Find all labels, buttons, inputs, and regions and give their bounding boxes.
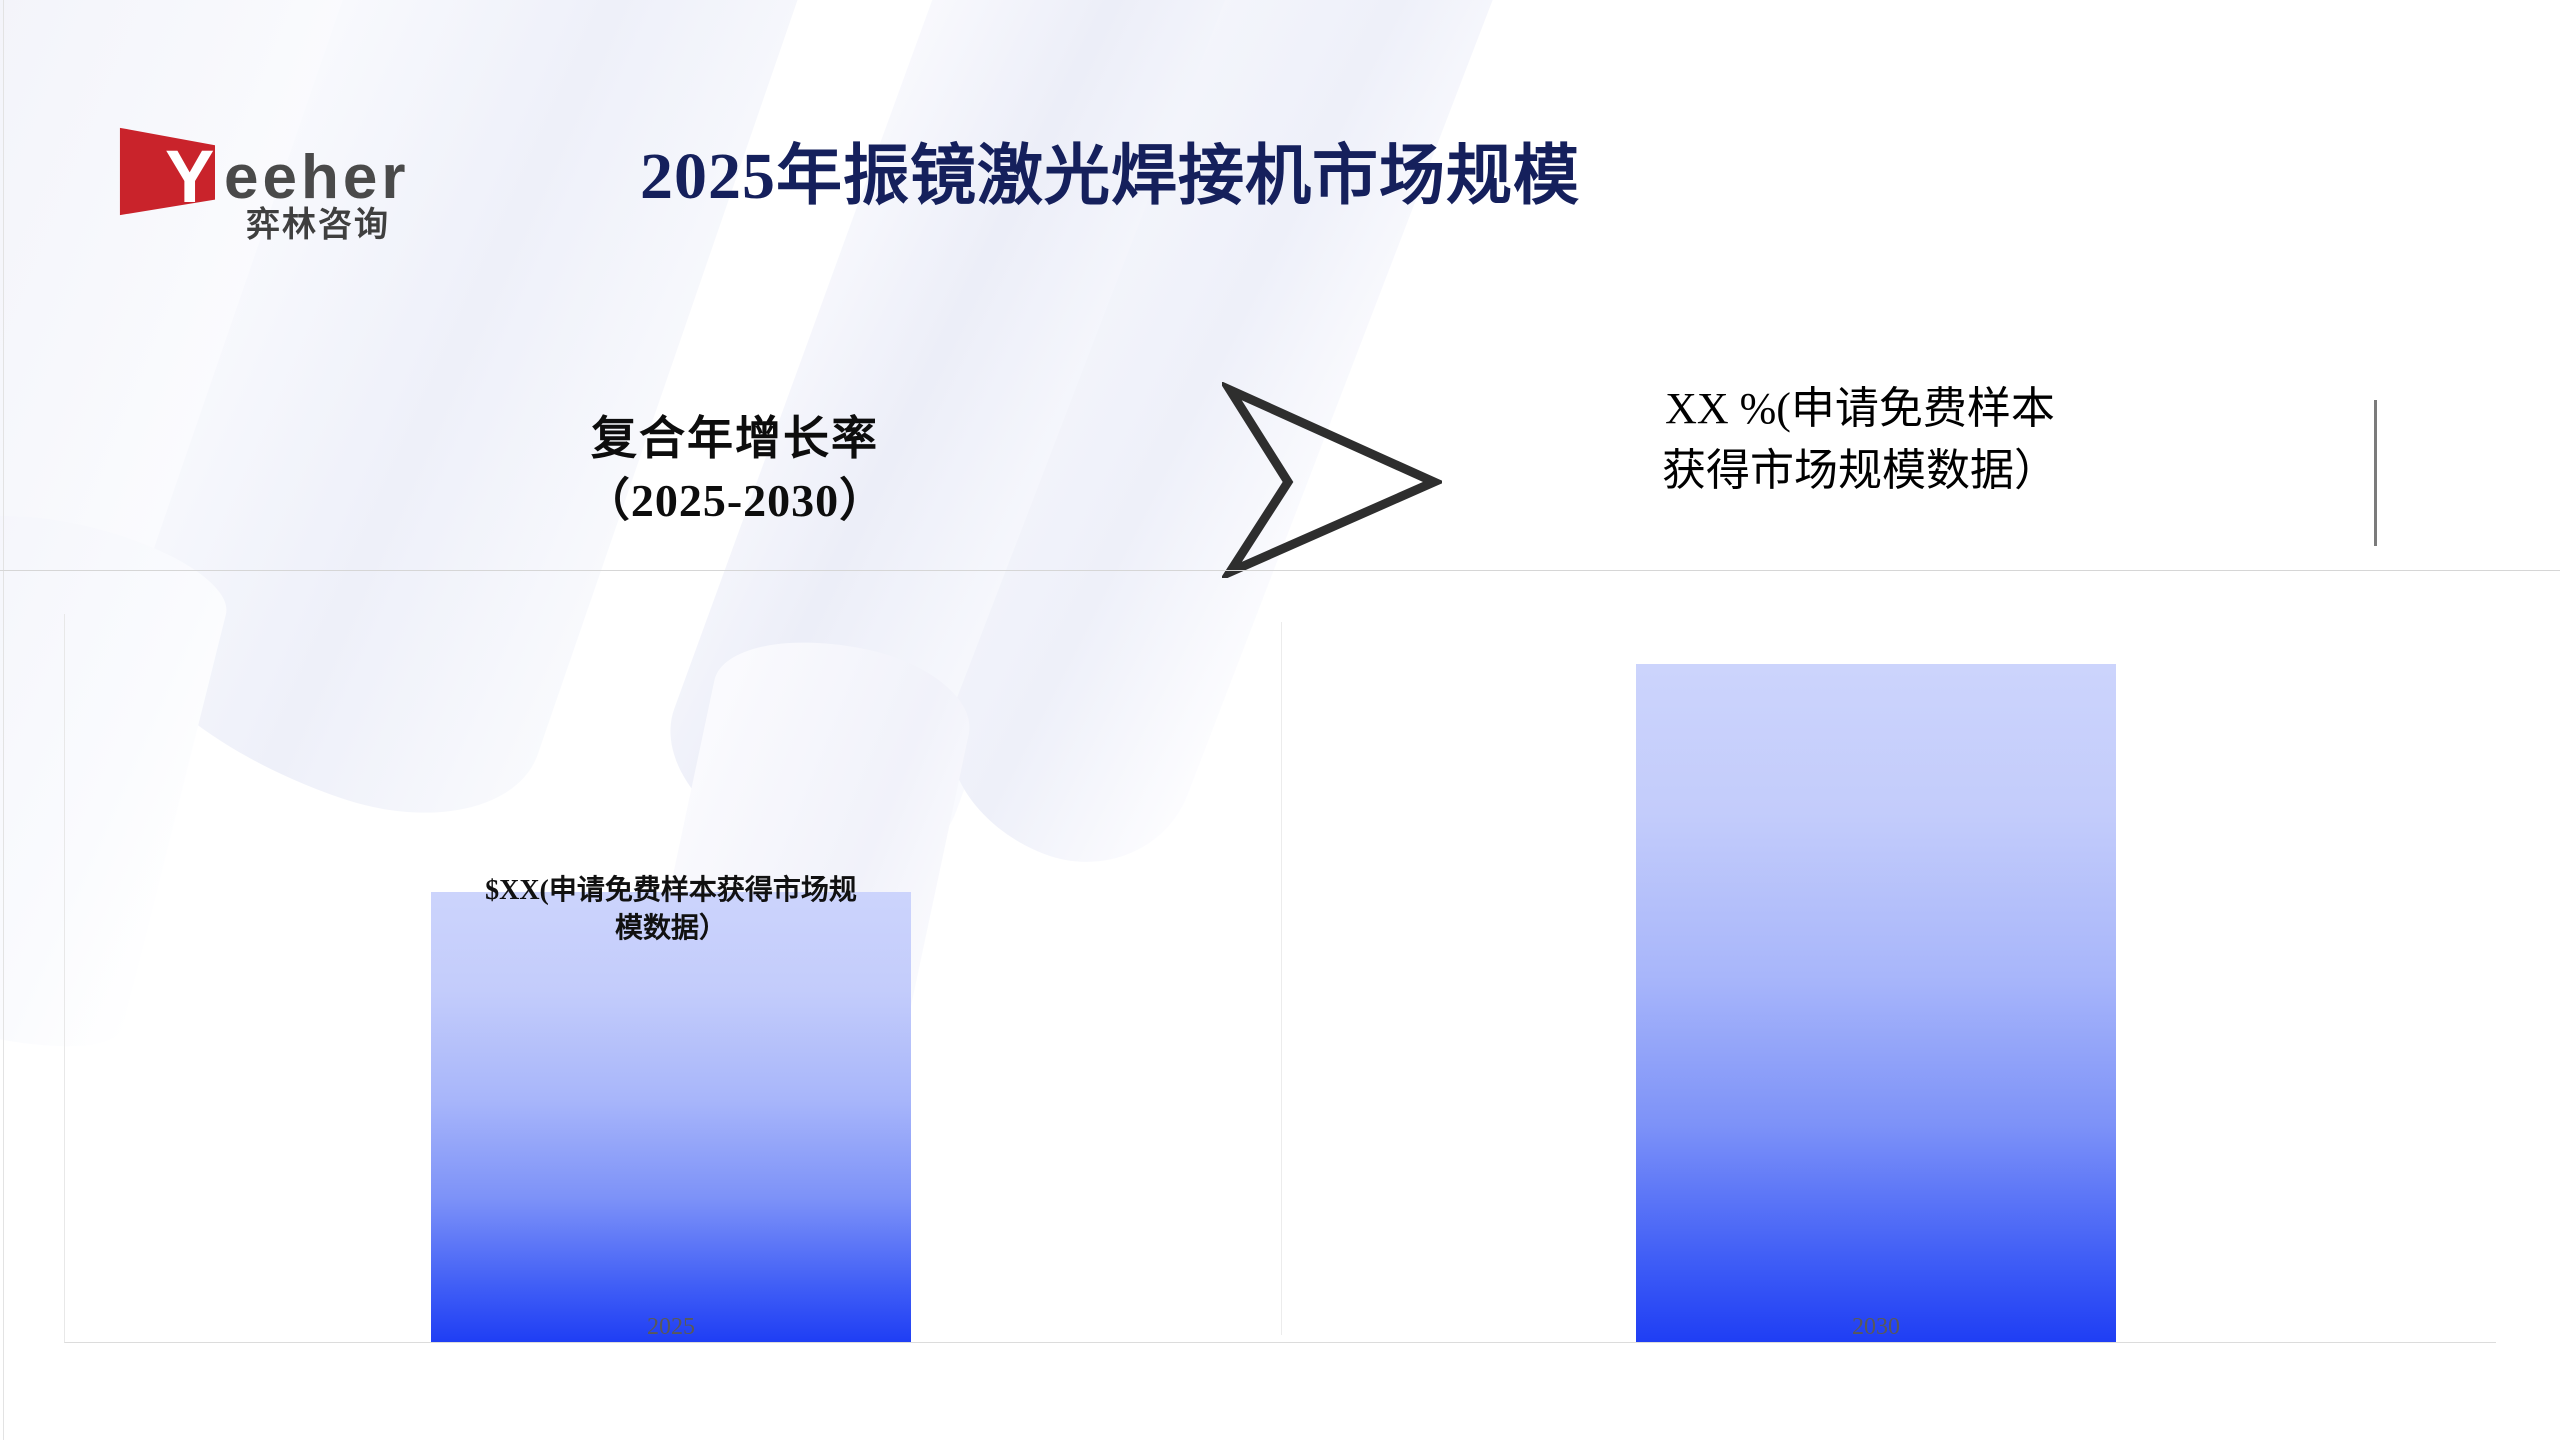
logo-letter-y: Y [165, 140, 213, 214]
bar-chart: $XX(申请免费样本获得市场规 模数据） 2025 2030 [64, 614, 2496, 1343]
arrow-right-outline-icon [1222, 382, 1442, 578]
bar-2030[interactable] [1636, 664, 2116, 1342]
bar-label-2025-line1: $XX(申请免费样本获得市场规 [381, 872, 961, 910]
slide-canvas: Y eeher 弈林咨询 2025年振镜激光焊接机市场规模 复合年增长率 （20… [0, 0, 2560, 1440]
cagr-value-line2: 获得市场规模数据） [1600, 440, 2120, 502]
page-left-edge-line [3, 0, 4, 1440]
x-tick-label-2030: 2030 [1636, 1312, 2116, 1342]
cagr-label-line2: （2025-2030） [540, 470, 930, 532]
cagr-value-line1: XX %(申请免费样本 [1600, 378, 2120, 440]
brand-logo: Y eeher 弈林咨询 [118, 118, 458, 223]
right-vertical-divider [2374, 400, 2377, 546]
page-title: 2025年振镜激光焊接机市场规模 [640, 136, 1580, 218]
chart-center-separator [1281, 622, 1282, 1335]
x-tick-label-2025: 2025 [431, 1312, 911, 1342]
cagr-label-line1: 复合年增长率 [540, 408, 930, 470]
header-horizontal-rule [0, 570, 2560, 571]
logo-chinese-name: 弈林咨询 [246, 208, 390, 242]
bar-2025[interactable] [431, 892, 911, 1342]
bar-label-2025-line2: 模数据） [381, 910, 961, 948]
logo-wordmark: eeher [224, 147, 409, 209]
chart-plot-area: $XX(申请免费样本获得市场规 模数据） 2025 2030 [65, 614, 2496, 1342]
bar-label-2025: $XX(申请免费样本获得市场规 模数据） [381, 872, 961, 948]
cagr-value-block: XX %(申请免费样本 获得市场规模数据） [1600, 378, 2120, 502]
cagr-label-block: 复合年增长率 （2025-2030） [540, 408, 930, 532]
